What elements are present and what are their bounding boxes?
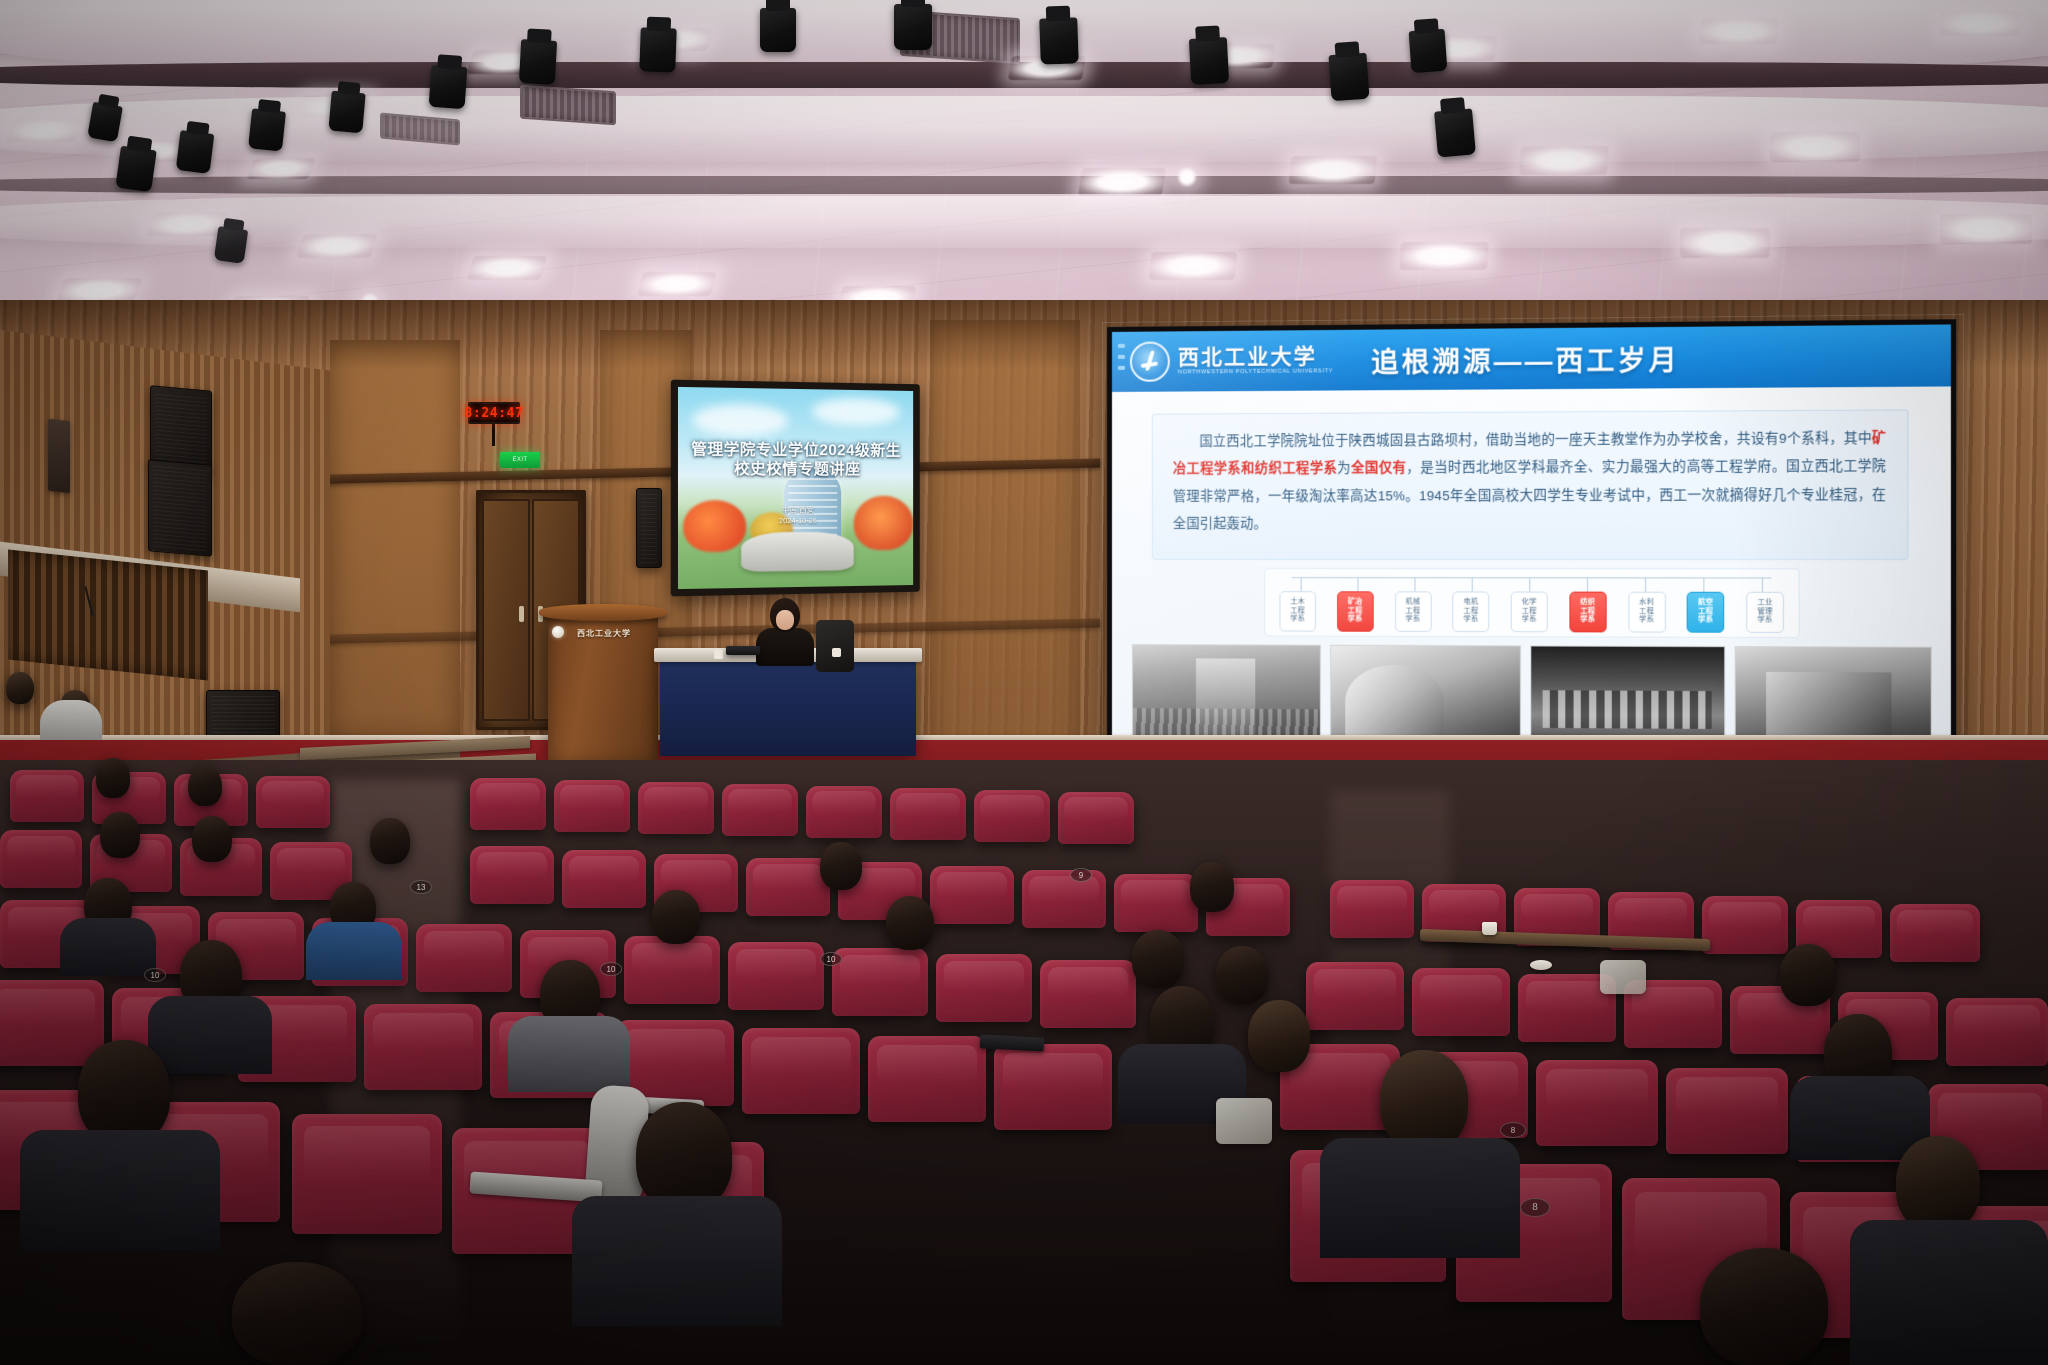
audience-shoulders [40, 700, 102, 740]
seat[interactable] [1306, 962, 1404, 1030]
seat[interactable] [470, 778, 546, 830]
seat-number: 8 [1500, 1122, 1526, 1138]
bag [1600, 960, 1646, 994]
ceiling-dark-band-2 [0, 176, 2048, 194]
audience-shoulders [20, 1130, 220, 1250]
seat[interactable] [994, 1044, 1112, 1130]
wall-speaker-slim [636, 488, 662, 568]
ac-vent [520, 85, 616, 126]
audience-head [636, 1102, 732, 1210]
audience-head [78, 1040, 170, 1144]
ceiling-downlight [1078, 168, 1166, 196]
ceiling-downlight [1940, 10, 2020, 36]
ceiling-downlight [5, 118, 85, 142]
department-box-shuili: 水利工程学系 [1628, 592, 1665, 633]
slide-paragraph-card: 国立西北工学院院址位于陕西城固县古路坝村，借助当地的一座天主教堂作为办学校舍，共… [1152, 409, 1909, 560]
presentation-slide: 西北工业大学 NORTHWESTERN POLYTECHNICAL UNIVER… [1112, 324, 1951, 792]
department-org-chart: 土木工程学系 矿冶工程学系 机械工程学系 电机工程学系 化学工程学系 纺织工程学… [1264, 568, 1799, 638]
audience-shoulders [60, 918, 156, 976]
para-mid-1: 为 [1337, 460, 1351, 475]
stage-spotlight [214, 226, 248, 264]
department-box-kuangye: 矿冶工程学系 [1337, 591, 1374, 631]
side-display-tv: 管理学院专业学位2024级新生 校史校情专题讲座 中国·西安 2024-10-2… [671, 380, 920, 597]
university-logo-icon [1130, 341, 1170, 381]
audience-head [1380, 1050, 1468, 1150]
slide-header-bar: 西北工业大学 NORTHWESTERN POLYTECHNICAL UNIVER… [1112, 324, 1951, 392]
stage-spotlight [429, 65, 468, 109]
seat[interactable] [1666, 1068, 1788, 1154]
department-box-hangkong: 航空工程学系 [1687, 592, 1725, 633]
seat[interactable] [1412, 968, 1510, 1036]
audience-head [232, 1262, 362, 1365]
lectern-top [539, 604, 667, 621]
wall-panel [330, 340, 460, 740]
university-name-en: NORTHWESTERN POLYTECHNICAL UNIVERSITY [1178, 368, 1333, 375]
stage-spotlight [1039, 17, 1079, 64]
stage-spotlight [115, 146, 156, 193]
audience-head [1132, 930, 1184, 988]
ceiling-downlight [1519, 146, 1609, 175]
seat-number: 10 [144, 968, 166, 982]
seat[interactable] [1058, 792, 1134, 844]
ceiling-downlight [1149, 252, 1238, 280]
audience-head [820, 842, 862, 890]
bag [1216, 1098, 1272, 1144]
seat[interactable] [562, 850, 646, 908]
main-led-screen: 西北工业大学 NORTHWESTERN POLYTECHNICAL UNIVER… [1107, 319, 1956, 798]
audience-shoulders [1320, 1138, 1520, 1258]
audience-shoulders [572, 1196, 782, 1326]
slide-body: 国立西北工学院院址位于陕西城固县古路坝村，借助当地的一座天主教堂作为办学校舍，共… [1112, 386, 1951, 792]
audience-shoulders [306, 922, 402, 980]
para-highlight-2: 全国仅有 [1351, 460, 1406, 475]
table-laptop [726, 646, 760, 655]
org-connector-lines [1292, 577, 1772, 592]
seat[interactable] [1702, 896, 1788, 954]
stage-spotlight [87, 102, 123, 143]
seat[interactable] [624, 936, 720, 1004]
seat[interactable] [1946, 998, 2048, 1066]
ceiling-downlight [467, 256, 548, 280]
audience-head [96, 758, 130, 798]
cloud [812, 397, 900, 426]
lectern: 西北工业大学 [548, 612, 658, 762]
stage-spotlight [248, 108, 286, 151]
department-box-gongye: 工业管理学系 [1746, 592, 1784, 633]
tv-title-line2: 校史校情专题讲座 [678, 461, 913, 481]
seat[interactable] [890, 788, 966, 840]
audience-head [188, 766, 222, 806]
door-handle[interactable] [519, 606, 524, 622]
audience-head [100, 812, 140, 858]
audience-head [6, 672, 34, 704]
header-marker-dots [1118, 344, 1125, 370]
department-box-dianji: 电机工程学系 [1453, 591, 1490, 632]
seat[interactable] [868, 1036, 986, 1122]
stage-spotlight [1328, 53, 1369, 102]
seat[interactable] [554, 780, 630, 832]
ceiling-downlight [1940, 214, 2032, 244]
presenter-body [756, 628, 814, 666]
ceiling [0, 0, 2048, 330]
saucer [1530, 960, 1552, 970]
clock-stand [492, 424, 495, 446]
acoustic-panel [8, 549, 208, 680]
audience-head [1700, 1248, 1828, 1365]
ceiling-downlight [1680, 228, 1770, 258]
department-box-huaxue: 化学工程学系 [1511, 592, 1548, 633]
stage-spotlight [760, 8, 796, 52]
audience-shoulders [148, 996, 272, 1074]
table-cup [832, 648, 841, 657]
tv-date: 2024-10-26 [678, 515, 913, 528]
seat[interactable] [470, 846, 554, 904]
seat[interactable] [806, 786, 882, 838]
seat[interactable] [638, 782, 714, 834]
presenter-chair [816, 620, 854, 672]
clock-time: 8:24:47 [465, 406, 524, 421]
seat-number: 10 [600, 962, 622, 976]
department-box-fangzhi: 纺织工程学系 [1569, 592, 1606, 633]
seat[interactable] [256, 776, 330, 828]
lectern-university-label: 西北工业大学 [560, 628, 648, 639]
stage-spotlight [519, 39, 557, 85]
seat[interactable] [974, 790, 1050, 842]
ceiling-downlight [1176, 166, 1198, 188]
seat[interactable] [832, 948, 928, 1016]
seat[interactable] [0, 830, 82, 888]
seat[interactable] [292, 1114, 442, 1234]
table-cup [714, 650, 723, 659]
presenter-table [660, 658, 916, 756]
stage-spotlight [1189, 37, 1229, 85]
seat[interactable] [930, 866, 1014, 924]
stage-spotlight [1434, 108, 1476, 157]
tv-subtitle: 中国·西安 2024-10-26 [678, 504, 913, 528]
audience-head [1216, 946, 1268, 1004]
university-name-cn: 西北工业大学 [1178, 346, 1333, 369]
audience-shoulders [508, 1016, 630, 1092]
seat[interactable] [722, 784, 798, 836]
seat[interactable] [10, 770, 84, 822]
ceiling-downlight [1399, 242, 1489, 270]
wall-mounted-box [48, 419, 70, 493]
audience-shoulders [1850, 1220, 2048, 1365]
tv-title: 管理学院专业学位2024级新生 校史校情专题讲座 [678, 441, 913, 480]
seat-number: 10 [820, 952, 842, 966]
audience-head [886, 896, 934, 950]
wall-speaker [148, 459, 212, 557]
seat[interactable] [1330, 880, 1414, 938]
ceiling-downlight [1289, 156, 1378, 184]
department-box-jixie: 机械工程学系 [1395, 591, 1432, 632]
led-clock-display: 8:24:47 [468, 402, 520, 424]
stage-spotlight [1409, 29, 1448, 73]
seat[interactable] [728, 942, 824, 1010]
stage-spotlight [639, 27, 677, 72]
exit-sign: EXIT [500, 452, 540, 468]
ceiling-downlight [246, 158, 316, 179]
stage-spotlight [176, 130, 215, 174]
campus-sculpture [741, 531, 854, 572]
para-prefix: 国立西北工学院院址位于陕西城固县古路坝村，借助当地的一座天主教堂作为办学校舍，共… [1199, 430, 1872, 448]
seat[interactable] [0, 980, 104, 1066]
audience-head [1248, 1000, 1310, 1072]
lecture-hall-photo: 8:24:47 EXIT 管理学院专业学位2024级新生 校史校情专题讲座 [0, 0, 2048, 1365]
seat[interactable] [746, 858, 830, 916]
stage-spotlight [894, 4, 932, 50]
seat[interactable] [1114, 874, 1198, 932]
audience-head [1190, 862, 1234, 912]
seat-number: 9 [1070, 868, 1092, 882]
tv-title-line1: 管理学院专业学位2024级新生 [678, 441, 913, 461]
seat[interactable] [742, 1028, 860, 1114]
audience-head [652, 890, 700, 944]
door-leaf-left[interactable] [482, 499, 530, 721]
presenter-face [776, 610, 794, 630]
ceiling-downlight [637, 272, 717, 296]
stage-spotlight [328, 91, 365, 134]
slide-paragraph: 国立西北工学院院址位于陕西城固县古路坝村，借助当地的一座天主教堂作为办学校舍，共… [1173, 424, 1886, 537]
seat[interactable] [1040, 960, 1136, 1028]
audience-head [1896, 1136, 1980, 1232]
seat[interactable] [1022, 870, 1106, 928]
exit-sign-label: EXIT [513, 457, 528, 463]
cloud [693, 403, 789, 436]
department-box-tumu: 土木工程学系 [1279, 591, 1315, 631]
university-brand: 西北工业大学 NORTHWESTERN POLYTECHNICAL UNIVER… [1112, 340, 1333, 382]
audience-head [370, 818, 410, 864]
seat[interactable] [1890, 904, 1980, 962]
seat[interactable] [416, 924, 512, 992]
ceiling-downlight [296, 234, 378, 258]
seat[interactable] [936, 954, 1032, 1022]
wall-panel [930, 320, 1080, 760]
ceiling-downlight [1770, 132, 1860, 162]
seat-number: 13 [410, 880, 432, 894]
department-row: 土木工程学系 矿冶工程学系 机械工程学系 电机工程学系 化学工程学系 纺织工程学… [1279, 591, 1783, 633]
seat[interactable] [364, 1004, 482, 1090]
table-cup [1482, 922, 1497, 935]
seat[interactable] [1536, 1060, 1658, 1146]
ceiling-downlight [1699, 18, 1779, 44]
audience-head [1780, 944, 1836, 1006]
seat-number: 8 [1520, 1198, 1550, 1217]
tv-screen-content: 管理学院专业学位2024级新生 校史校情专题讲座 中国·西安 2024-10-2… [678, 387, 913, 589]
audience-head [192, 816, 232, 862]
